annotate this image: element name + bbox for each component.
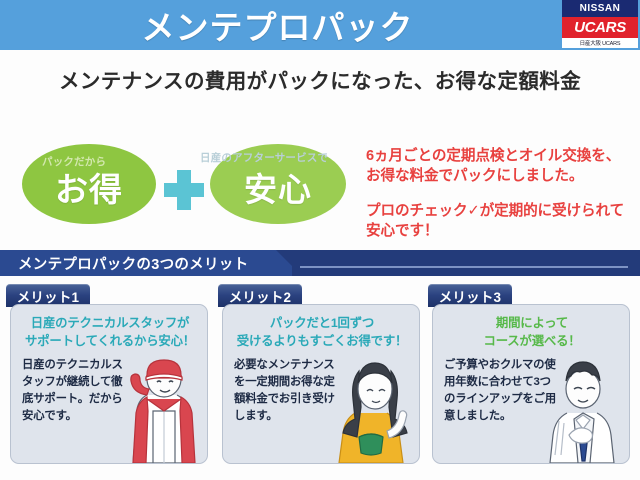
nissan-logo: NISSAN [562, 0, 638, 17]
merit-card-2-heading: パックだと1回ずつ 受けるよりもすごくお得です！ [229, 315, 415, 350]
pill-anshin-label: 安心 [244, 173, 312, 206]
benefit-pills: お得 パックだから 安心 日産のアフターサービスで [14, 130, 360, 238]
ucars-logo: UCARS [562, 17, 638, 38]
merit-card-1-body: 日産のテクニカルスタッフが継続して徹底サポート。だから安心です。 [22, 357, 132, 425]
merit-card-2-heading-line1: パックだと1回ずつ [229, 315, 415, 333]
merit-card-1-heading: 日産のテクニカルスタッフが サポートしてくれるから安心！ [17, 315, 203, 350]
merit-card-2: パックだと1回ずつ 受けるよりもすごくお得です！ 必要なメンテナンスを一定期間お… [222, 304, 420, 464]
page-title: メンテプロパック [0, 1, 555, 49]
nissan-ucars-logo: NISSAN UCARS 日産大阪 UCARS [562, 0, 638, 48]
red-paragraph-2: プロのチェック✓が定期的に受けられて安心です！ [366, 201, 634, 241]
businessman-icon [539, 351, 625, 463]
merit-card-2-body: 必要なメンテナンスを一定期間お得な定額料金でお引き受けします。 [234, 357, 344, 425]
red-paragraph-1: 6ヵ月ごとの定期点検とオイル交換を、お得な料金でパックにしました。 [366, 146, 634, 186]
merit-card-3-heading: 期間によって コースが選べる！ [439, 315, 625, 350]
merit-card-1: 日産のテクニカルスタッフが サポートしてくれるから安心！ 日産のテクニカルスタッ… [10, 304, 208, 464]
plus-icon [164, 170, 204, 210]
pill-anshin-caption: 日産のアフターサービスで [200, 150, 328, 165]
subtitle: メンテナンスの費用がパックになった、お得な定額料金 [0, 58, 640, 100]
red-description: 6ヵ月ごとの定期点検とオイル交換を、お得な料金でパックにしました。 プロのチェッ… [366, 146, 634, 242]
merit-card-3-heading-line2: コースが選べる！ [439, 333, 625, 351]
saluting-mechanic-icon [117, 351, 203, 463]
merit-card-2-heading-line2: 受けるよりもすごくお得です！ [229, 333, 415, 351]
merit-card-1-heading-line2: サポートしてくれるから安心！ [17, 333, 203, 351]
merit-card-3: 期間によって コースが選べる！ ご予算やおクルマの使用年数に合わせて3つのライン… [432, 304, 630, 464]
pill-otoku-caption: パックだから [42, 154, 106, 169]
advertisement-page: メンテプロパック NISSAN UCARS 日産大阪 UCARS メンテナンスの… [0, 0, 640, 480]
merits-banner-label: メンテプロパックの3つのメリット [18, 250, 248, 276]
merit-card-3-heading-line1: 期間によって [439, 315, 625, 333]
woman-with-wallet-icon [329, 351, 415, 463]
merits-banner: メンテプロパックの3つのメリット [0, 250, 640, 276]
pill-otoku-label: お得 [55, 173, 123, 206]
page-header: メンテプロパック NISSAN UCARS 日産大阪 UCARS [0, 0, 640, 50]
merit-cards: メリット1 日産のテクニカルスタッフが サポートしてくれるから安心！ 日産のテク… [0, 284, 640, 474]
logo-caption: 日産大阪 UCARS [562, 38, 638, 48]
merit-card-1-heading-line1: 日産のテクニカルスタッフが [17, 315, 203, 333]
banner-rule [300, 266, 628, 268]
